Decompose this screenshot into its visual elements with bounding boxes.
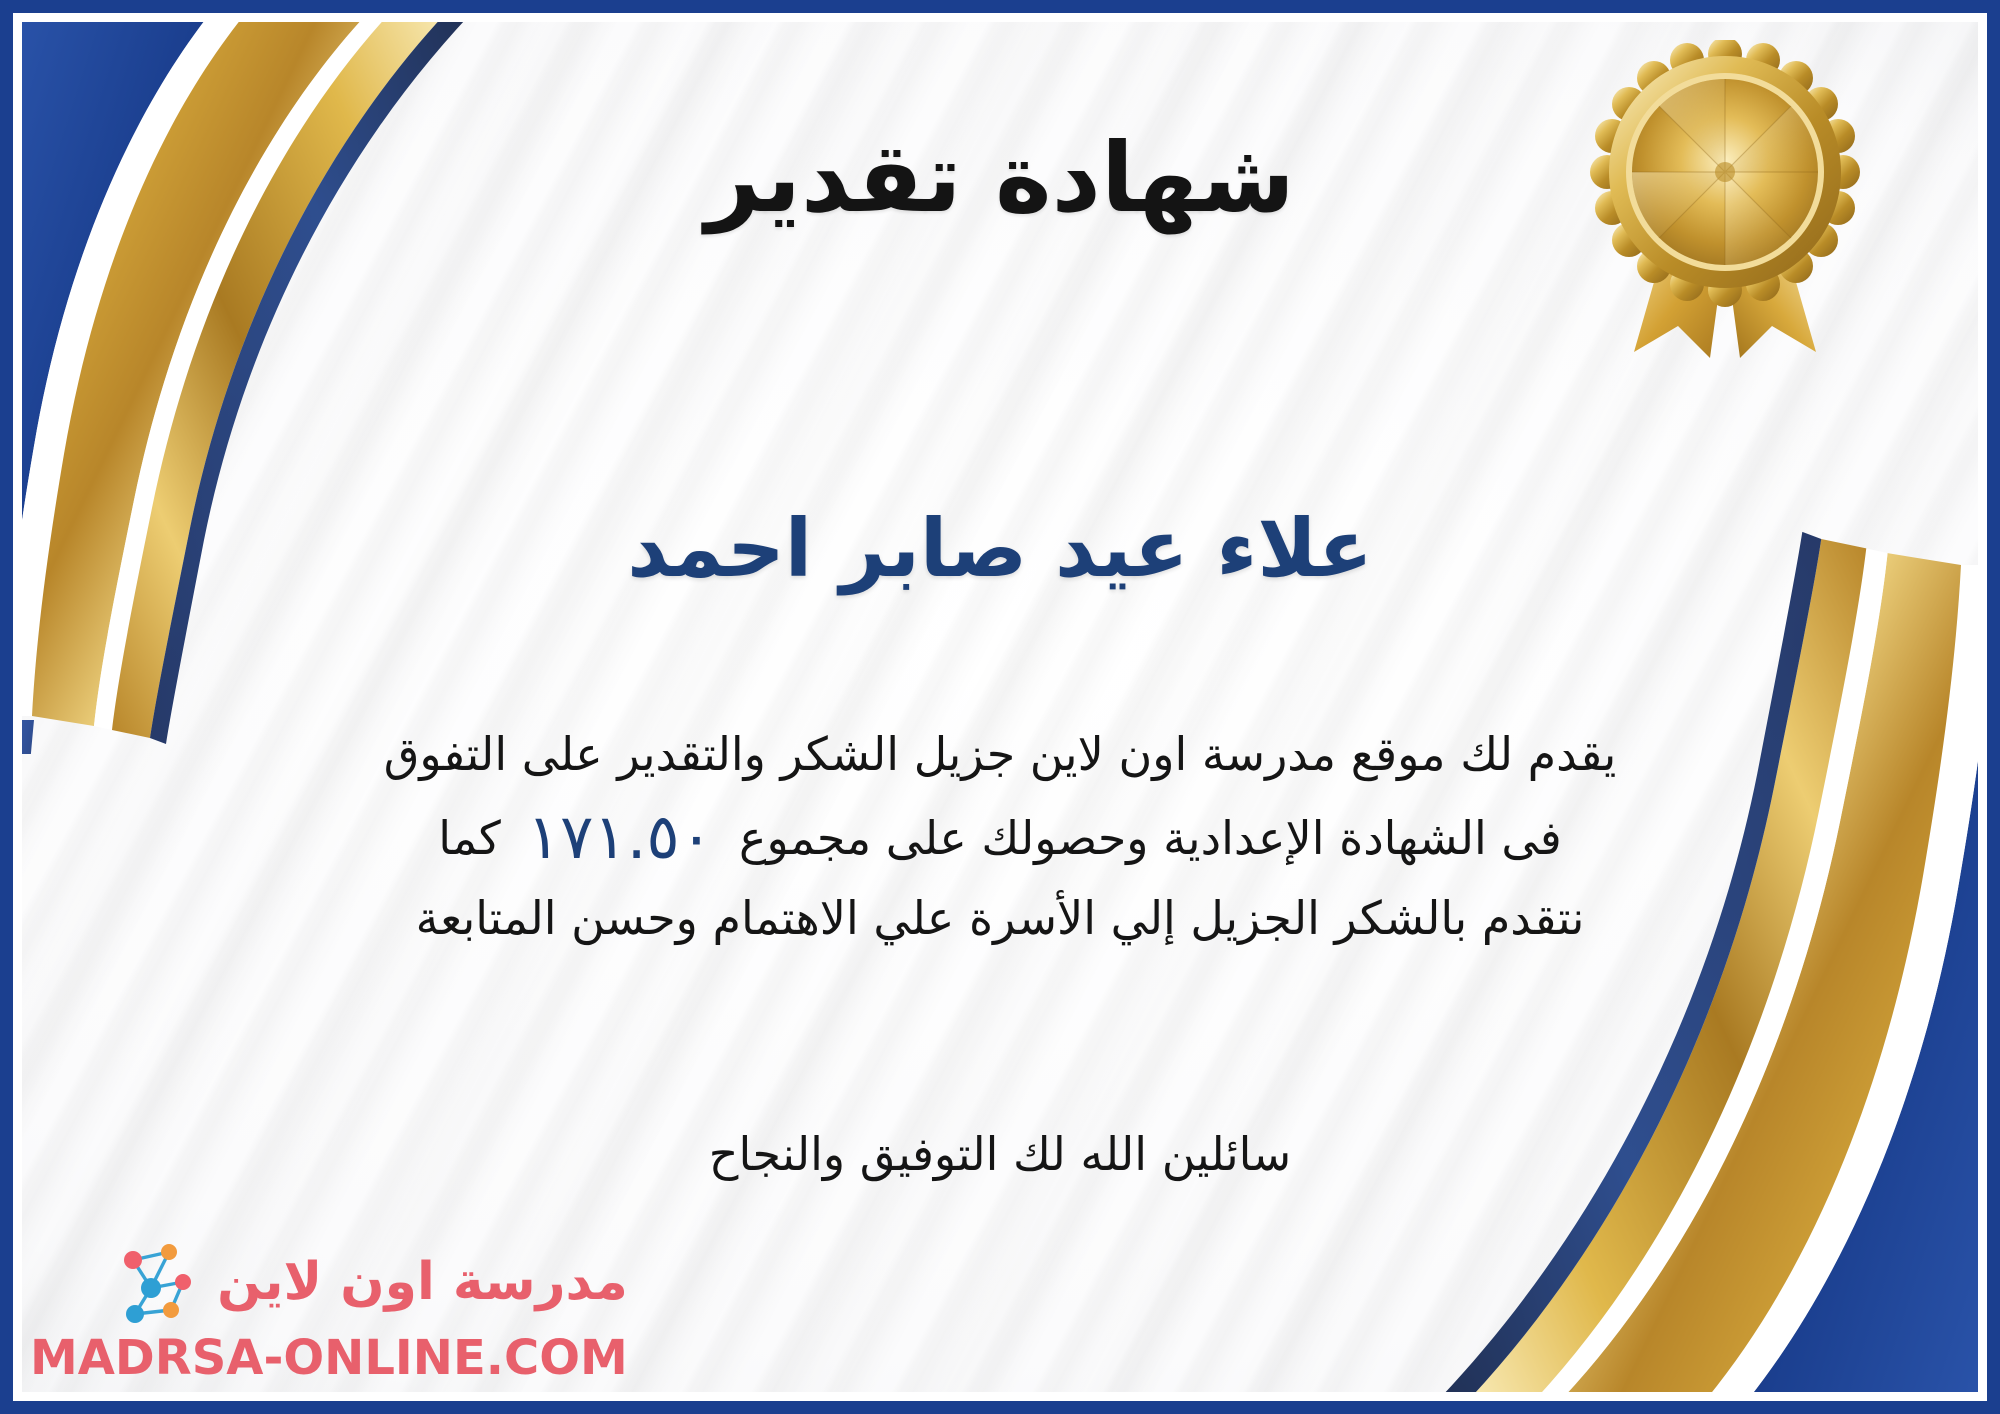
body-line-2-text-after-score: كما: [438, 811, 501, 865]
body-line-2: فى الشهادة الإعدادية وحصولك على مجموع١٧١…: [210, 790, 1790, 884]
body-line-2-text-before-score: فى الشهادة الإعدادية وحصولك على مجموع: [739, 811, 1562, 865]
network-nodes-icon: [111, 1236, 203, 1328]
certificate-page: شهادة تقدير علاء عيد صابر احمد يقدم لك م…: [0, 0, 2000, 1414]
brand-arabic-name: مدرسة اون لاين: [217, 1255, 628, 1310]
certificate-title: شهادة تقدير: [0, 128, 2000, 230]
brand-website[interactable]: MADRSA-ONLINE.COM: [30, 1330, 628, 1386]
certificate-body: يقدم لك موقع مدرسة اون لاين جزيل الشكر و…: [210, 720, 1790, 954]
body-line-1: يقدم لك موقع مدرسة اون لاين جزيل الشكر و…: [210, 720, 1790, 790]
closing-line: سائلين الله لك التوفيق والنجاح: [0, 1120, 2000, 1189]
student-name: علاء عيد صابر احمد: [0, 505, 2000, 593]
body-line-3: نتقدم بالشكر الجزيل إلي الأسرة علي الاهت…: [210, 884, 1790, 954]
brand-logo[interactable]: مدرسة اون لاين MADRSA-ONLINE: [30, 1236, 628, 1386]
score-value: ١٧١.٥٠: [501, 800, 739, 873]
